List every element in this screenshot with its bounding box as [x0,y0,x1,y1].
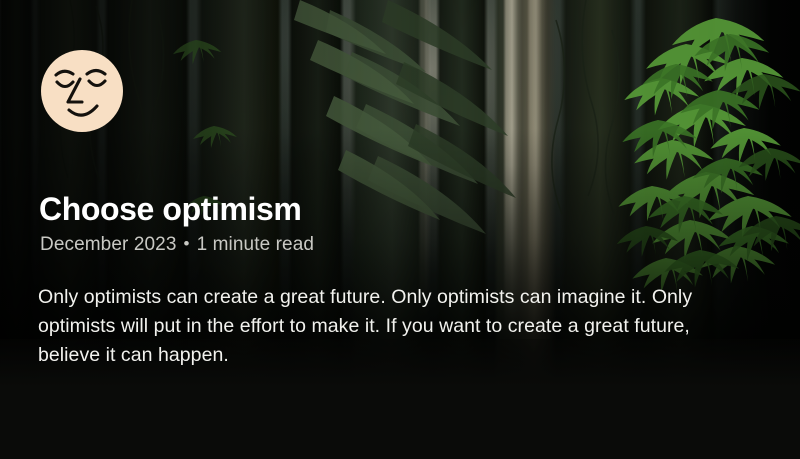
post-date: December 2023 [40,234,177,255]
post-meta: December 2023•1 minute read [40,234,314,256]
card-content: Choose optimism December 2023•1 minute r… [0,0,800,459]
post-body: Only optimists can create a great future… [38,283,706,370]
page-title: Choose optimism [39,191,301,228]
meta-separator: • [177,234,197,253]
article-card: Choose optimism December 2023•1 minute r… [0,0,800,459]
smiling-face-avatar [41,50,123,132]
post-read-time: 1 minute read [197,234,314,255]
